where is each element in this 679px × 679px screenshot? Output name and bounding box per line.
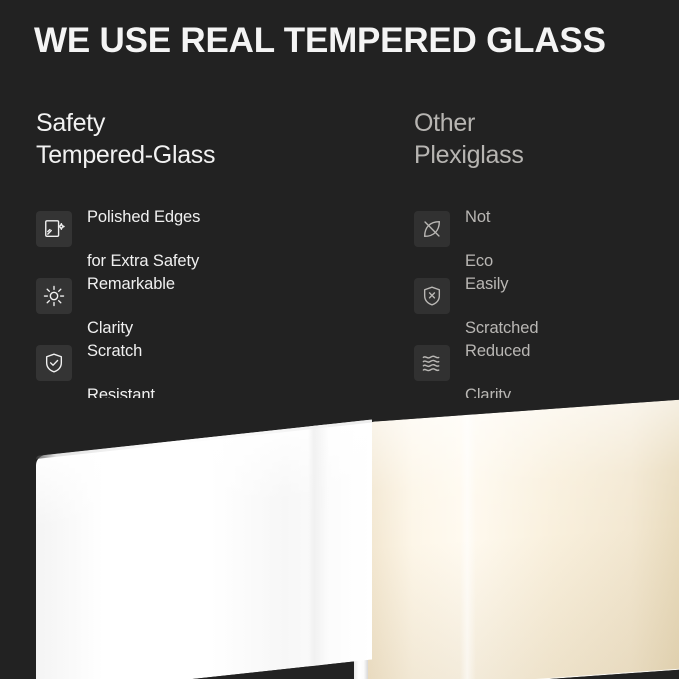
feature-label-line1: Easily (465, 275, 508, 293)
feature-item-remarkable-clarity: Remarkable Clarity (36, 274, 386, 318)
feature-list: Polished Edges for Extra Safety Remarkab… (36, 207, 386, 385)
feature-item-not-eco: Not Eco (414, 207, 679, 251)
column-safety-tempered-glass: Safety Tempered-Glass Polished Edges for… (36, 108, 386, 408)
polished-edge-sparkle-icon (36, 211, 72, 247)
feature-item-scratch-resistant: Scratch Resistant (36, 341, 386, 385)
column-heading-line2: Tempered-Glass (36, 140, 386, 172)
feature-label: Scratch Resistant (87, 319, 155, 406)
column-heading: Other Plexiglass (414, 108, 679, 171)
column-heading: Safety Tempered-Glass (36, 108, 386, 171)
sun-brightness-icon (36, 278, 72, 314)
shield-x-icon (414, 278, 450, 314)
feature-list: Not Eco Easily Scratched (414, 207, 679, 385)
leaf-crossed-out-icon (414, 211, 450, 247)
column-heading-line1: Other (414, 108, 679, 140)
feature-label-line1: Not (465, 208, 490, 226)
feature-item-polished-edges: Polished Edges for Extra Safety (36, 207, 386, 251)
feature-label-line1: Remarkable (87, 275, 175, 293)
feature-item-easily-scratched: Easily Scratched (414, 274, 679, 318)
shield-check-icon (36, 345, 72, 381)
feature-label: Reduced Clarity (465, 319, 530, 406)
feature-label-line1: Polished Edges (87, 208, 200, 226)
comparison-infographic: WE USE REAL TEMPERED GLASS Safety Temper… (0, 0, 679, 679)
wavy-lines-icon (414, 345, 450, 381)
plexiglass-panel (368, 399, 679, 679)
tempered-glass-panel (36, 419, 372, 679)
feature-label-line1: Scratch (87, 342, 142, 360)
feature-label-line1: Reduced (465, 342, 530, 360)
feature-item-reduced-clarity: Reduced Clarity (414, 341, 679, 385)
page-title: WE USE REAL TEMPERED GLASS (34, 22, 654, 61)
column-heading-line1: Safety (36, 108, 386, 140)
product-photo (0, 398, 679, 679)
column-other-plexiglass: Other Plexiglass Not Eco (414, 108, 679, 408)
column-heading-line2: Plexiglass (414, 140, 679, 172)
